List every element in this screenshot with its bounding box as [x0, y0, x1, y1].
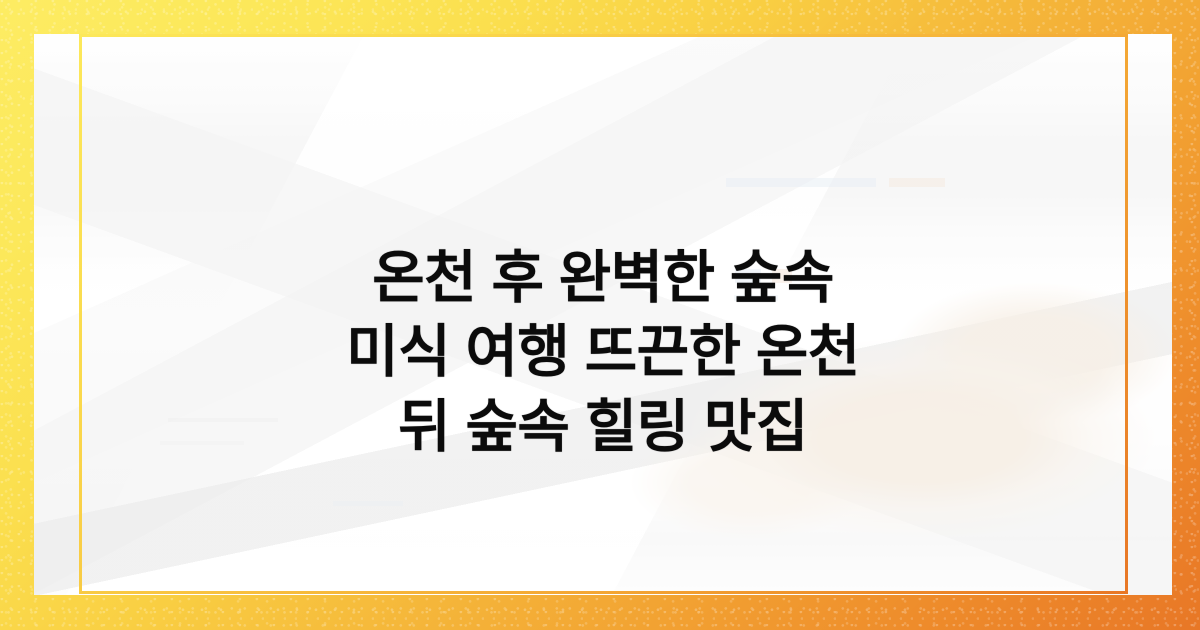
content-panel: 온천 후 완벽한 숲속 미식 여행 뜨끈한 온천 뒤 숲속 힐링 맛집	[34, 34, 1172, 595]
thumbnail-card: 온천 후 완벽한 숲속 미식 여행 뜨끈한 온천 뒤 숲속 힐링 맛집	[0, 0, 1200, 630]
page-title: 온천 후 완벽한 숲속 미식 여행 뜨끈한 온천 뒤 숲속 힐링 맛집	[34, 241, 1172, 465]
headline-line-2: 미식 여행 뜨끈한 온천	[104, 315, 1102, 390]
headline-line-1: 온천 후 완벽한 숲속	[104, 241, 1102, 316]
headline-line-3: 뒤 숲속 힐링 맛집	[104, 390, 1102, 465]
